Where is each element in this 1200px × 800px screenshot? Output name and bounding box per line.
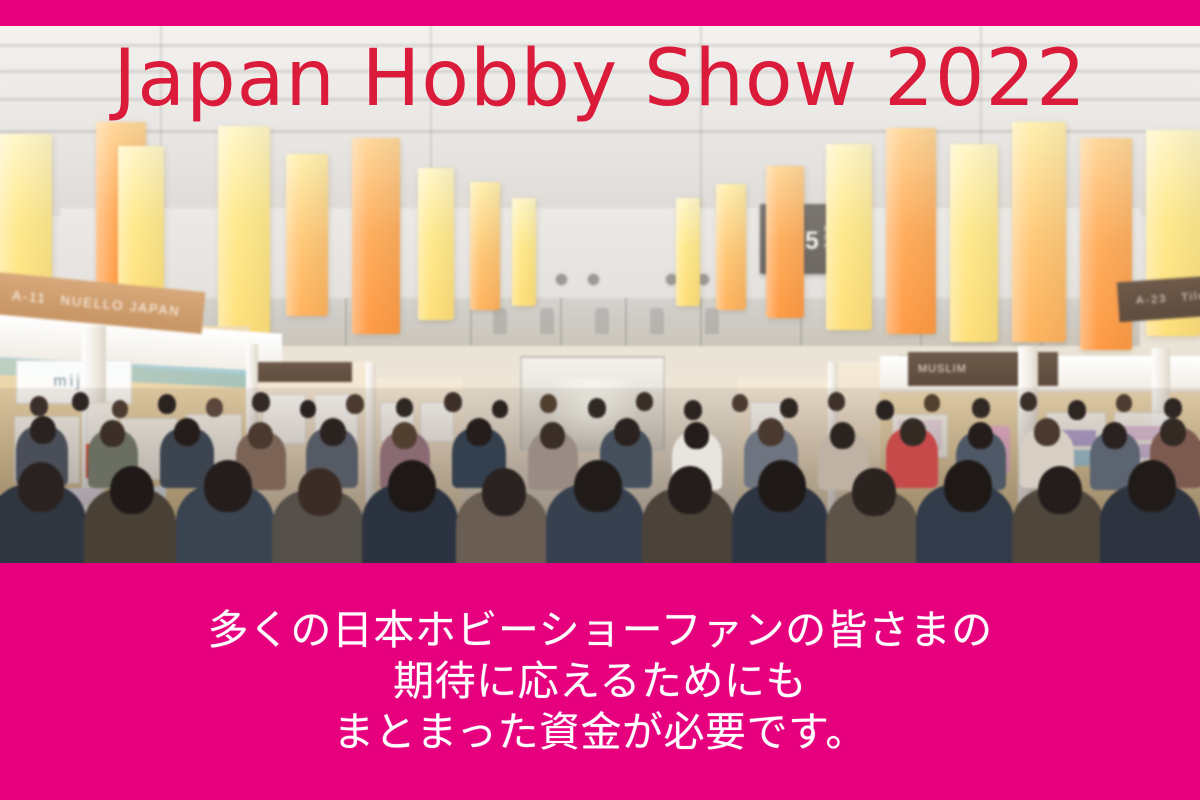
hanging-banner [286, 154, 328, 316]
hanging-banner [1012, 122, 1066, 342]
crowd-of-visitors [0, 388, 1200, 563]
message-line-2: 期待に応えるためにも [393, 656, 807, 707]
booth-name: MUSLIM [918, 363, 967, 375]
japan-hobby-show-banner: 東5 EAST 5 HALL A-11 NU [0, 0, 1200, 800]
hanging-banner [512, 198, 536, 306]
hanging-banner [676, 198, 700, 306]
message-line-1: 多くの日本ホビーショーファンの皆さまの [207, 605, 992, 656]
hanging-banner [716, 184, 746, 310]
top-accent-bar [0, 0, 1200, 26]
page-title: Japan Hobby Show 2022 [113, 40, 1086, 118]
hanging-banner [352, 138, 400, 334]
hanging-banner [886, 128, 936, 334]
hanging-banner [950, 144, 998, 342]
booth-code: A-11 [12, 287, 48, 305]
booth-code: A-23 [1136, 293, 1168, 307]
booth-name: Tilda Ja [1181, 288, 1200, 304]
hanging-banner [218, 126, 270, 338]
hanging-banner [470, 182, 500, 310]
title-container: Japan Hobby Show 2022 [0, 40, 1200, 118]
hanging-banner [826, 144, 872, 330]
message-line-3: まとまった資金が必要です。 [333, 707, 867, 758]
booth-name: NUELLO JAPAN [60, 292, 181, 318]
hanging-banner [766, 166, 804, 318]
message-panel: 多くの日本ホビーショーファンの皆さまの 期待に応えるためにも まとまった資金が必… [0, 563, 1200, 800]
hanging-banner [418, 168, 454, 320]
